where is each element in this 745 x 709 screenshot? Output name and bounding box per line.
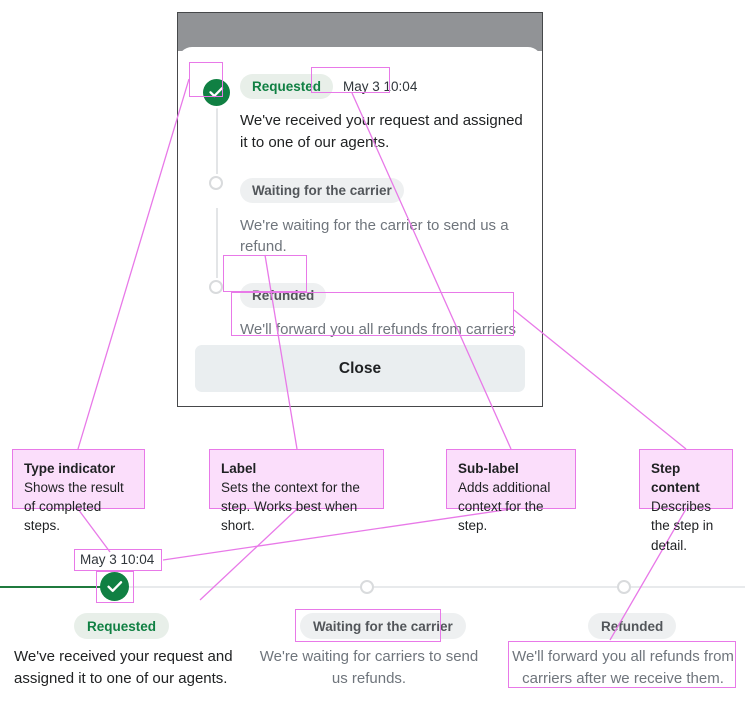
step-content: We're waiting for the carrier to send us… <box>240 215 525 259</box>
step-label-chip[interactable]: Waiting for the carrier <box>240 178 404 203</box>
note-title: Step content <box>651 459 721 497</box>
note-type-indicator: Type indicator Shows the result of compl… <box>12 449 145 509</box>
note-title: Type indicator <box>24 459 133 478</box>
note-title: Label <box>221 459 372 478</box>
circle-outline-icon <box>209 176 223 190</box>
timeline-content-waiting: We're waiting for carriers to send us re… <box>253 646 485 690</box>
step-spacer <box>240 154 525 174</box>
circle-outline-icon <box>360 580 374 594</box>
highlight-timeline-timestamp <box>74 549 162 571</box>
note-body: Sets the context for the step. Works bes… <box>221 480 360 533</box>
annotation-diagram: Requested May 3 10:04 We've received you… <box>0 0 745 709</box>
highlight-type-indicator <box>189 62 223 97</box>
note-step-content: Step content Describes the step in detai… <box>639 449 733 509</box>
circle-outline-icon <box>209 280 223 294</box>
timeline-rail-remaining <box>115 586 745 588</box>
note-label: Label Sets the context for the step. Wor… <box>209 449 384 509</box>
note-body: Shows the result of completed steps. <box>24 480 124 533</box>
note-title: Sub-label <box>458 459 564 478</box>
step-header: Waiting for the carrier <box>240 174 525 208</box>
close-button[interactable]: Close <box>195 345 525 392</box>
timeline-content-requested: We've received your request and assigned… <box>14 646 246 690</box>
timeline-label-chip-refunded[interactable]: Refunded <box>588 613 676 639</box>
highlight-sub-label <box>311 67 390 93</box>
modal-top-bar <box>178 13 542 51</box>
modal-card: Requested May 3 10:04 We've received you… <box>178 47 542 406</box>
highlight-step-content <box>231 292 514 336</box>
timeline-rail <box>216 208 218 279</box>
highlight-label <box>223 255 307 292</box>
highlight-timeline-content <box>508 641 736 688</box>
highlight-timeline-label <box>295 609 441 642</box>
note-body: Describes the step in detail. <box>651 499 713 552</box>
note-sub-label: Sub-label Adds additional context for th… <box>446 449 576 509</box>
circle-outline-icon <box>617 580 631 594</box>
timeline-label-chip-requested[interactable]: Requested <box>74 613 169 639</box>
timeline-rail <box>216 103 218 174</box>
note-body: Adds additional context for the step. <box>458 480 550 533</box>
highlight-timeline-indicator <box>96 571 134 603</box>
step-content: We've received your request and assigned… <box>240 110 525 154</box>
